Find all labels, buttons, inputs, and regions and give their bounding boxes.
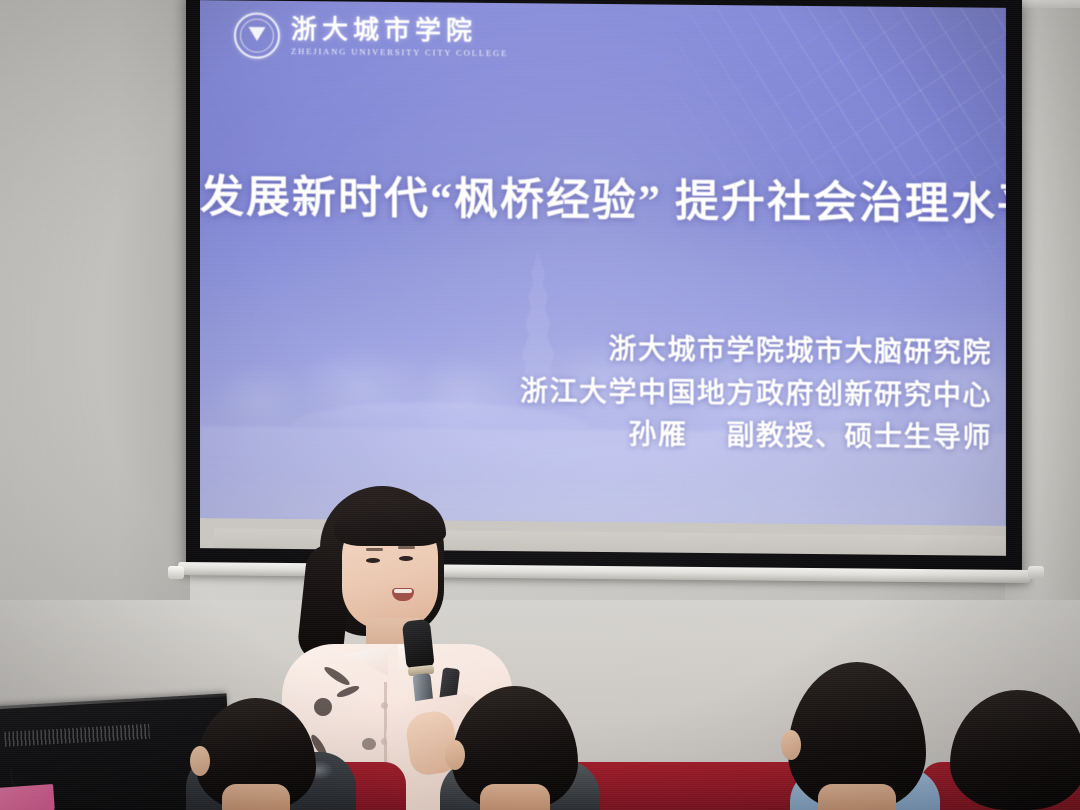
presenter-titles: 副教授、硕士生导师 [726,420,992,454]
presenter-eye-left [366,558,380,563]
nape [818,784,895,810]
ear [190,746,210,776]
slide-subtitle-block: 浙大城市学院城市大脑研究院 浙江大学中国地方政府创新研究中心 孙雁 副教授、硕士… [200,325,1006,460]
presenter-fringe [334,498,446,546]
presenter-eye-right [399,556,413,561]
slide-subtitle-line-2: 浙江大学中国地方政府创新研究中心 [200,368,992,418]
nape [480,784,551,810]
presenter-name: 孙雁 [628,419,687,451]
logo-name-cn: 浙大城市学院 [291,16,508,45]
roller-bar-cap-left [168,566,184,579]
ear [781,730,801,760]
ear [445,740,465,770]
monitor-vents [4,724,150,747]
projection-screen-surface: 浙大城市学院 ZHEJIANG UNIVERSITY CITY COLLEGE … [200,0,1006,556]
nape [222,784,289,810]
blouse-floral-motif [314,698,332,716]
audience-member-head [788,662,926,810]
lecture-photo-scene: 浙大城市学院 ZHEJIANG UNIVERSITY CITY COLLEGE … [0,0,1080,810]
audience-member-head [452,686,578,810]
roller-bar-cap-right [1028,566,1044,579]
university-logo: 浙大城市学院 ZHEJIANG UNIVERSITY CITY COLLEGE [234,12,508,61]
slide-title: 发展新时代“枫桥经验” 提升社会治理水平 [200,160,1006,232]
logo-name-en: ZHEJIANG UNIVERSITY CITY COLLEGE [291,46,508,58]
university-seal-icon [234,12,280,58]
wall-left-panel [0,0,190,700]
presenter-brow-left [366,548,383,551]
slide-subtitle-line-1: 浙大城市学院城市大脑研究院 [200,325,992,375]
blouse-floral-motif [362,738,376,750]
presenter-brow-right [398,546,415,549]
pink-object [0,784,55,810]
hair [950,690,1080,810]
audience-member-head [196,698,316,810]
logo-wordmark: 浙大城市学院 ZHEJIANG UNIVERSITY CITY COLLEGE [291,16,508,58]
audience-member-head [950,690,1080,810]
blouse-button [381,702,388,709]
microphone-head [402,619,435,670]
slide-presenter-line: 孙雁 副教授、硕士生导师 [200,410,992,460]
projected-slide: 浙大城市学院 ZHEJIANG UNIVERSITY CITY COLLEGE … [200,0,1006,526]
